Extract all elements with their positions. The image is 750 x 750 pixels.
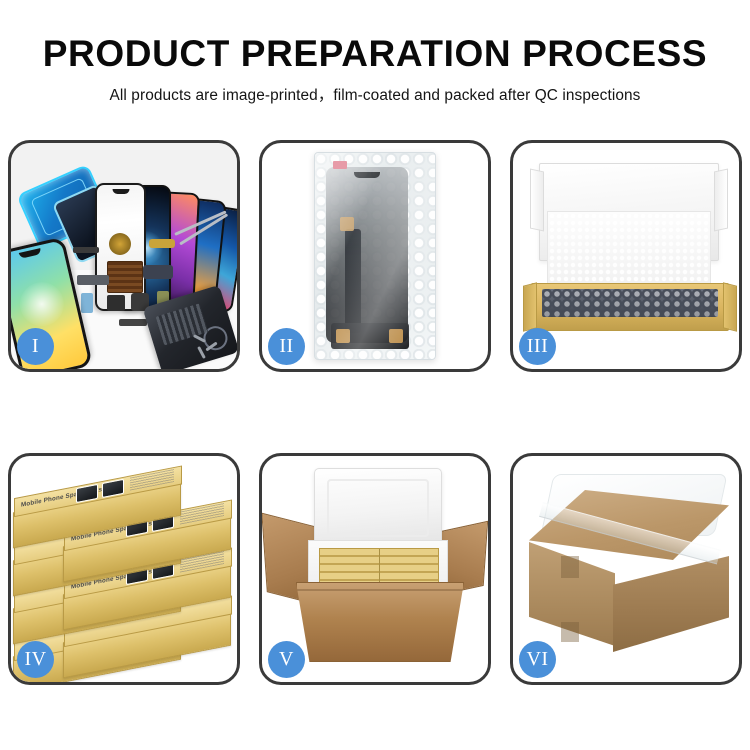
- step-badge-5: V: [268, 641, 305, 678]
- part-gold-flex: [149, 239, 175, 248]
- part-speaker-coil: [109, 233, 131, 255]
- step-badge-6: VI: [519, 641, 556, 678]
- page-subtitle: All products are image-printed，film-coat…: [0, 83, 750, 105]
- bubble-wrapped-contents: [542, 289, 718, 317]
- gold-inner-box-base: [531, 283, 729, 331]
- step-badge-2: II: [268, 328, 305, 365]
- box-flap-left: [523, 282, 537, 331]
- step-badge-3: III: [519, 328, 556, 365]
- connector-board: [331, 323, 409, 349]
- process-step-panel-1: I: [8, 140, 240, 372]
- process-step-panel-4: Mobile Phone Spare Parts Mobile Phone Sp…: [8, 453, 240, 685]
- process-step-panel-3: III: [510, 140, 742, 372]
- carton-right-face: [613, 556, 729, 652]
- carton-seal-lower: [561, 622, 579, 642]
- step-badge-4: IV: [17, 641, 54, 678]
- part-connector: [81, 293, 93, 313]
- part-chip: [107, 295, 125, 311]
- process-step-panel-6: VI: [510, 453, 742, 685]
- part-bracket: [77, 275, 109, 285]
- box-flap-right: [723, 282, 737, 331]
- page-header: PRODUCT PREPARATION PROCESS All products…: [0, 0, 750, 105]
- outer-carton-open: [296, 582, 464, 662]
- bubble-wrap-bag: [314, 152, 436, 360]
- process-step-panel-5: V: [259, 453, 491, 685]
- part-module: [143, 265, 173, 279]
- carton-seal-upper: [561, 556, 579, 578]
- page-title: PRODUCT PREPARATION PROCESS: [0, 34, 750, 74]
- part-circuit-grid: [107, 261, 143, 293]
- flex-cable: [345, 229, 361, 333]
- process-step-panel-2: II: [259, 140, 491, 372]
- pink-label-sticker: [333, 161, 347, 169]
- foam-cooler-lid: [314, 468, 442, 548]
- process-steps-grid: I II III: [8, 140, 742, 685]
- part-strip: [73, 247, 99, 253]
- lcd-screen-module: [326, 167, 408, 343]
- foam-sheet: [547, 211, 711, 291]
- screws-group: [193, 333, 227, 359]
- step-badge-1: I: [17, 328, 54, 365]
- part-antenna: [119, 319, 147, 326]
